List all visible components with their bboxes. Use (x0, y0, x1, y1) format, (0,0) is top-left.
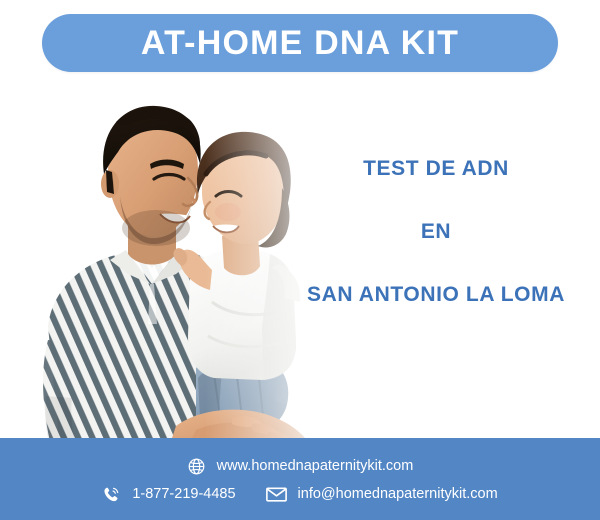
website-label: www.homednapaternitykit.com (217, 459, 414, 474)
headline-block: TEST DE ADN EN SAN ANTONIO LA LOMA (286, 158, 586, 305)
phone-label: 1-877-219-4485 (132, 487, 235, 502)
contact-email[interactable]: info@homednapaternitykit.com (266, 485, 498, 504)
contact-website[interactable]: www.homednapaternitykit.com (187, 457, 414, 476)
banner-title: AT-HOME DNA KIT (141, 26, 459, 60)
phone-icon (102, 485, 121, 504)
poster-canvas: AT-HOME DNA KIT (0, 0, 600, 520)
envelope-icon (266, 485, 287, 504)
banner-pill: AT-HOME DNA KIT (42, 14, 558, 72)
footer-row-phone-email: 1-877-219-4485 info@homednapaternitykit.… (102, 485, 497, 504)
family-photo (0, 78, 330, 450)
headline-line-1: TEST DE ADN (286, 158, 586, 179)
footer-bar: www.homednapaternitykit.com 1-877-219-44… (0, 438, 600, 520)
email-label: info@homednapaternitykit.com (298, 487, 498, 502)
contact-phone[interactable]: 1-877-219-4485 (102, 485, 235, 504)
banner-container: AT-HOME DNA KIT (0, 14, 600, 76)
headline-line-2: EN (286, 221, 586, 242)
headline-line-3: SAN ANTONIO LA LOMA (280, 284, 592, 305)
footer-row-website: www.homednapaternitykit.com (187, 457, 414, 476)
globe-icon (187, 457, 206, 476)
